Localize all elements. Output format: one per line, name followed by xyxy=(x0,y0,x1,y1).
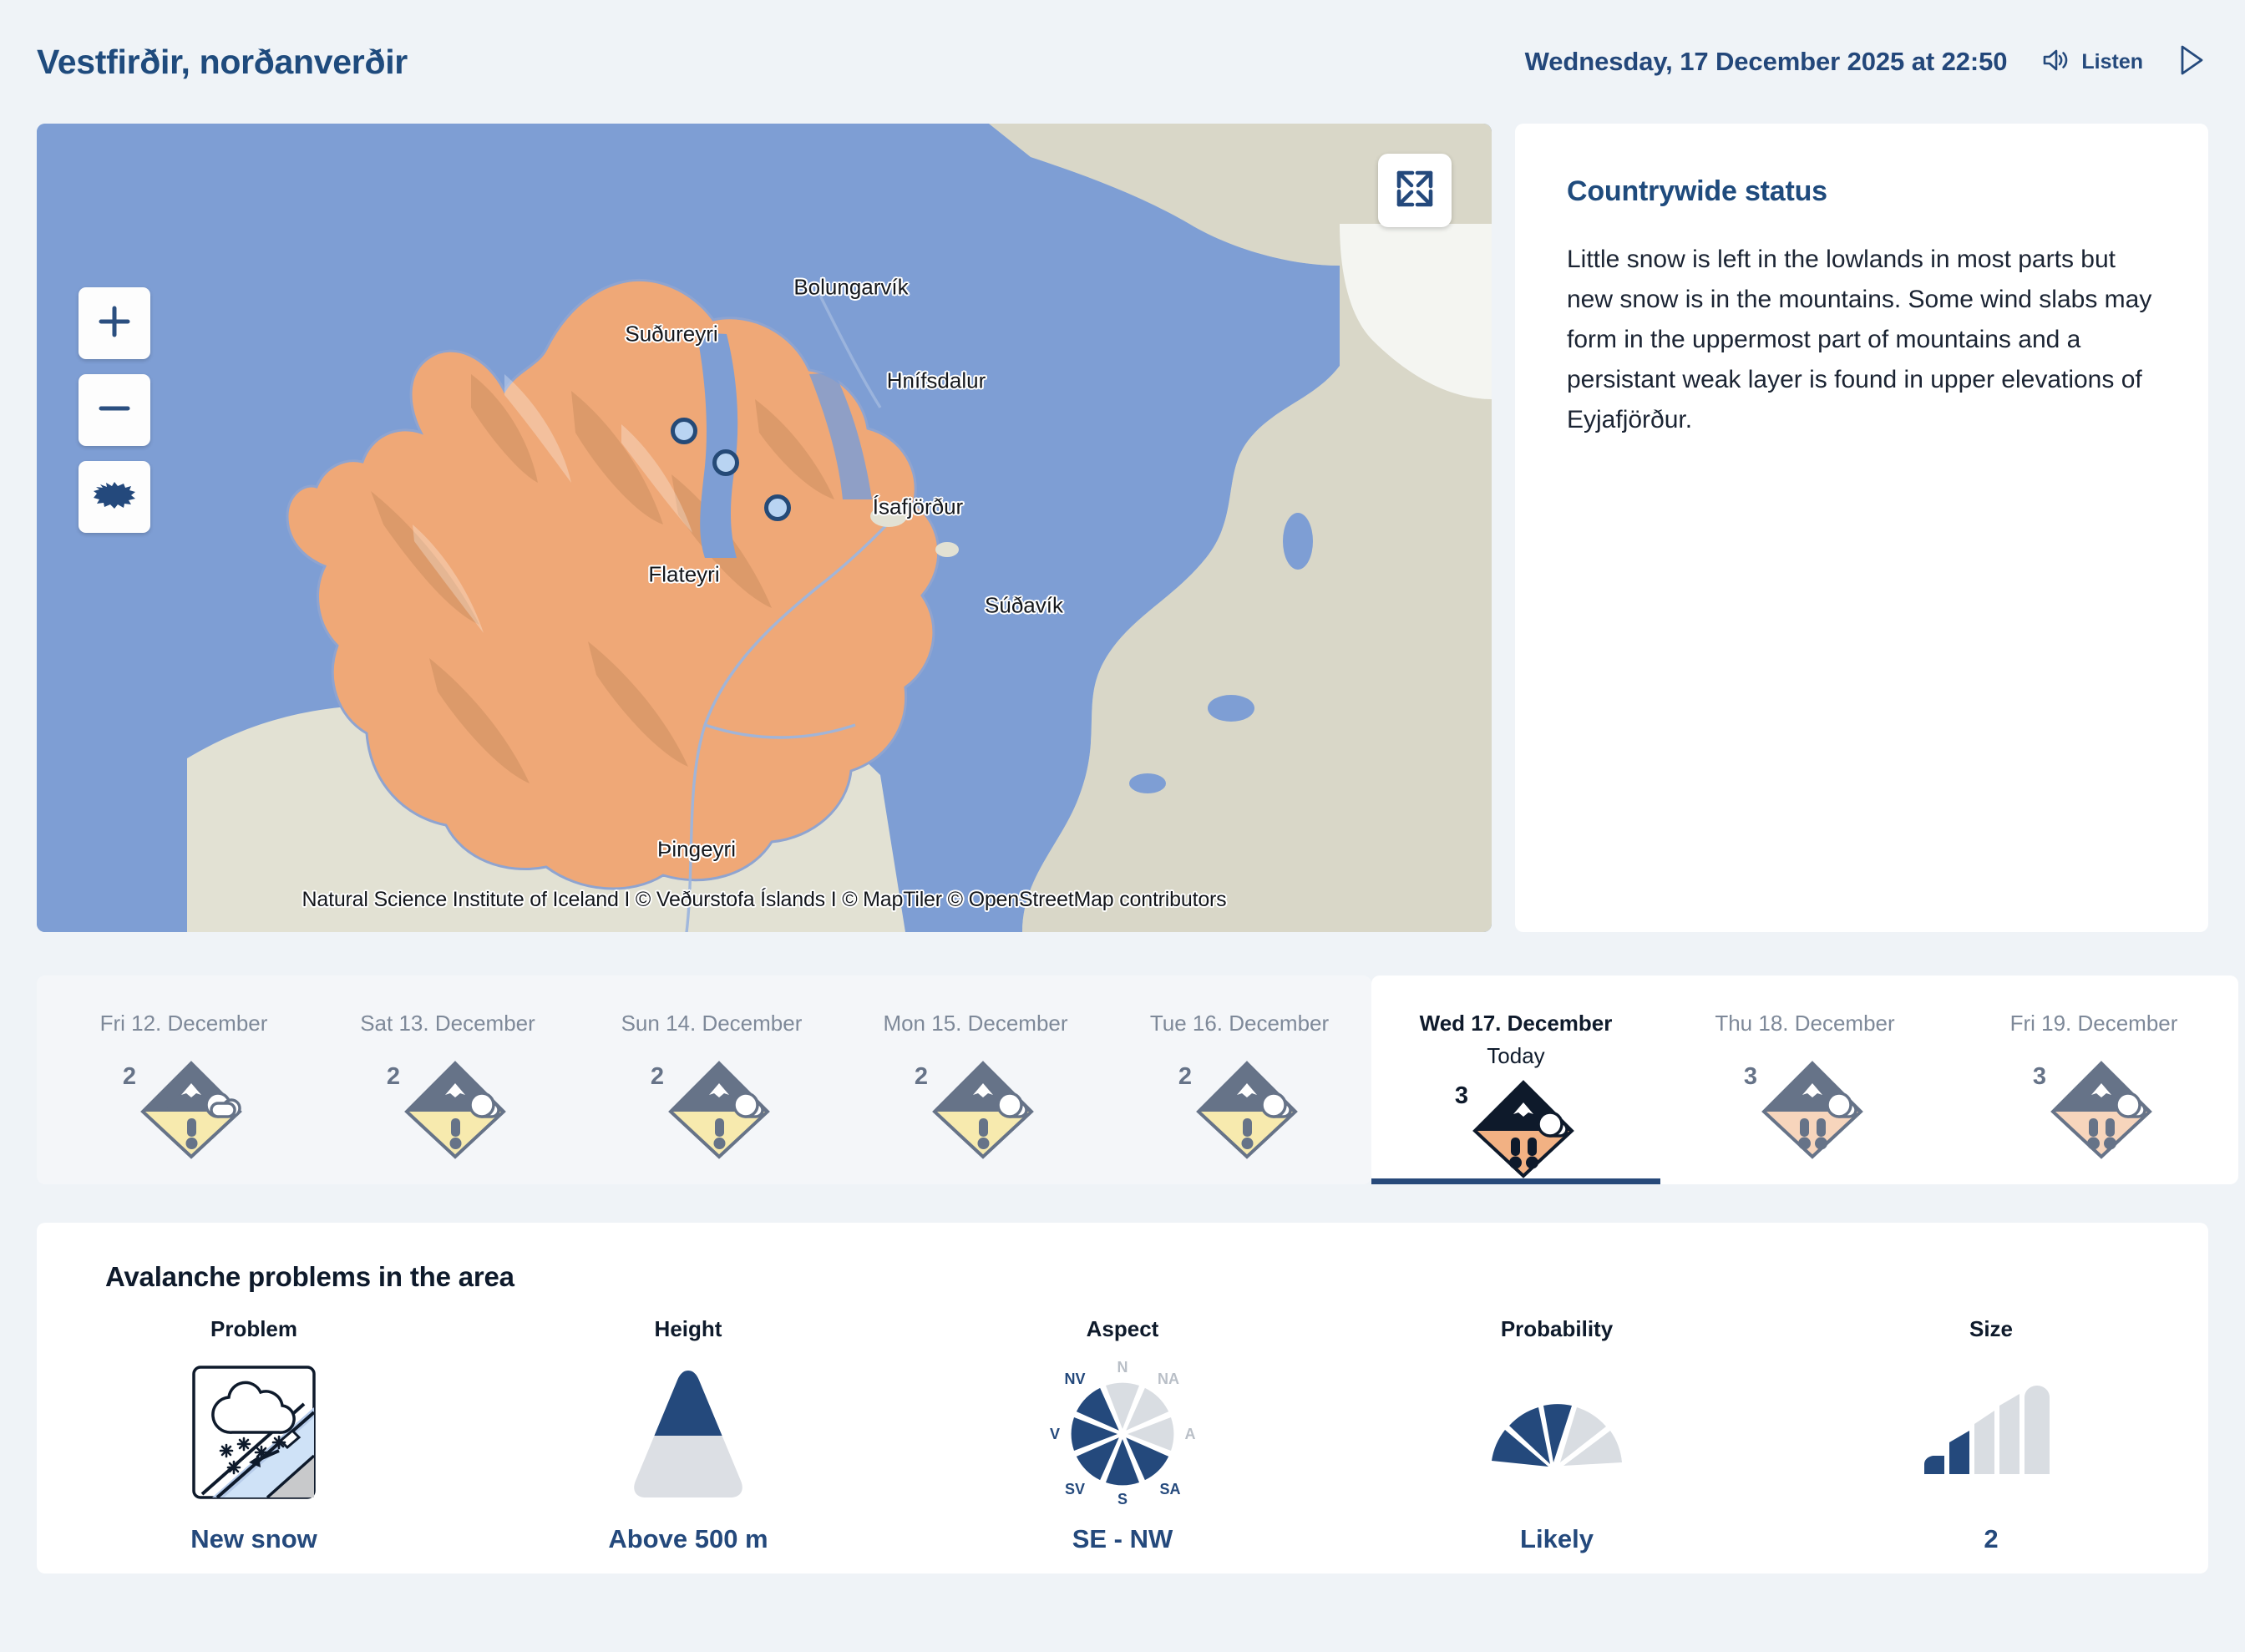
danger-level-2-icon xyxy=(930,1058,1036,1164)
problem-col-size: Size 2 xyxy=(1774,1316,2208,1554)
aspect-label-sa: SA xyxy=(1159,1481,1180,1497)
status-title: Countrywide status xyxy=(1567,175,2160,208)
day-label: Tue 16. December xyxy=(1150,1011,1329,1036)
map-attribution: Natural Science Institute of Iceland I ©… xyxy=(37,888,1492,912)
page-title: Vestfirðir, norðanverðir xyxy=(37,43,408,82)
danger-level-icon-group: 2 xyxy=(123,1058,245,1165)
timeline-day-fri-12[interactable]: Fri 12. December 2 xyxy=(52,975,316,1184)
listen-button[interactable]: Listen xyxy=(2042,48,2143,77)
danger-level-icon-group: 3 xyxy=(1455,1077,1577,1184)
danger-level-icon-group: 3 xyxy=(1744,1058,1866,1165)
play-button[interactable] xyxy=(2178,44,2205,80)
problem-value: Likely xyxy=(1520,1524,1594,1554)
danger-level-2-icon xyxy=(666,1058,773,1164)
problems-title: Avalanche problems in the area xyxy=(105,1261,2208,1293)
danger-level-3-icon xyxy=(1759,1058,1866,1164)
probability-gauge-icon xyxy=(1485,1361,1629,1504)
problem-heading: Aspect xyxy=(1087,1316,1159,1342)
map-controls xyxy=(79,287,150,533)
map-and-status-row: Bolungarvík Suðureyri Hnífsdalur Ísafjör… xyxy=(0,124,2245,932)
forecast-datetime: Wednesday, 17 December 2025 at 22:50 xyxy=(1525,47,2008,77)
map-place-label: Þingeyri xyxy=(657,837,736,863)
danger-level-3-icon xyxy=(2048,1058,2155,1164)
aspect-label-s: S xyxy=(1117,1491,1128,1506)
map-place-label: Flateyri xyxy=(648,562,719,588)
page-header: Vestfirðir, norðanverðir Wednesday, 17 D… xyxy=(0,0,2245,124)
problem-col-height: Height Above 500 m xyxy=(471,1316,905,1554)
fullscreen-expand-icon xyxy=(1394,168,1436,214)
timeline-day-sun-14[interactable]: Sun 14. December 2 xyxy=(580,975,844,1184)
day-label: Fri 12. December xyxy=(100,1011,268,1036)
danger-level-number: 2 xyxy=(915,1063,928,1091)
danger-level-number: 2 xyxy=(123,1063,136,1091)
fullscreen-button[interactable] xyxy=(1378,154,1452,227)
aspect-label-n: N xyxy=(1117,1359,1128,1376)
aspect-label-sv: SV xyxy=(1065,1481,1085,1497)
problem-heading: Height xyxy=(655,1316,722,1342)
timeline-day-fri-19[interactable]: Fri 19. December 3 xyxy=(1949,975,2238,1184)
danger-level-number: 3 xyxy=(1455,1082,1468,1110)
iceland-outline-icon xyxy=(92,479,137,516)
map-marker[interactable] xyxy=(671,418,697,444)
aspect-label-a: A xyxy=(1185,1426,1196,1442)
problem-heading: Probability xyxy=(1501,1316,1613,1342)
danger-level-icon-group: 2 xyxy=(915,1058,1036,1165)
timeline-day-mon-15[interactable]: Mon 15. December 2 xyxy=(844,975,1107,1184)
map-place-label: Suðureyri xyxy=(625,322,717,347)
zoom-out-button[interactable] xyxy=(79,374,150,446)
problem-col-probability: Probability Likely xyxy=(1340,1316,1774,1554)
countrywide-status-card: Countrywide status Little snow is left i… xyxy=(1515,124,2208,932)
status-text: Little snow is left in the lowlands in m… xyxy=(1567,240,2160,440)
reset-to-iceland-button[interactable] xyxy=(79,461,150,533)
map-place-label: Hnífsdalur xyxy=(887,368,986,394)
map-marker[interactable] xyxy=(764,494,791,521)
map-marker[interactable] xyxy=(712,449,739,476)
day-label: Wed 17. December xyxy=(1420,1011,1613,1036)
map-place-label: Ísafjörður xyxy=(873,494,963,520)
forecast-timeline: Fri 12. December 2 xyxy=(37,975,2208,1184)
problem-heading: Size xyxy=(1969,1316,2013,1342)
map-place-label: Súðavík xyxy=(985,593,1063,619)
today-label: Today xyxy=(1487,1043,1544,1069)
day-label: Thu 18. December xyxy=(1715,1011,1894,1036)
danger-level-icon-group: 2 xyxy=(387,1058,509,1165)
problems-grid: Problem xyxy=(37,1316,2208,1554)
day-label: Sun 14. December xyxy=(621,1011,803,1036)
problem-col-aspect: Aspect xyxy=(905,1316,1340,1554)
day-label: Fri 19. December xyxy=(2010,1011,2178,1036)
header-right-group: Wednesday, 17 December 2025 at 22:50 Lis… xyxy=(1525,44,2205,80)
map-canvas xyxy=(37,124,1492,932)
height-mountain-icon xyxy=(624,1361,753,1504)
aspect-label-nv: NV xyxy=(1064,1371,1085,1387)
day-label: Sat 13. December xyxy=(360,1011,535,1036)
danger-level-icon-group: 2 xyxy=(651,1058,773,1165)
timeline-day-wed-17-today[interactable]: Wed 17. December Today 3 xyxy=(1371,975,1660,1184)
danger-level-number: 3 xyxy=(1744,1063,1757,1091)
problem-value: New snow xyxy=(190,1524,317,1554)
avalanche-forecast-page: Vestfirðir, norðanverðir Wednesday, 17 D… xyxy=(0,0,2245,1652)
danger-level-2-icon xyxy=(402,1058,509,1164)
problem-value: 2 xyxy=(1984,1524,1998,1554)
danger-level-number: 3 xyxy=(2033,1063,2046,1091)
timeline-day-thu-18[interactable]: Thu 18. December 3 xyxy=(1660,975,1949,1184)
avalanche-problems-card: Avalanche problems in the area Problem xyxy=(37,1223,2208,1573)
speaker-icon xyxy=(2042,48,2070,77)
listen-label: Listen xyxy=(2081,50,2143,74)
timeline-day-tue-16[interactable]: Tue 16. December 2 xyxy=(1107,975,1371,1184)
timeline-past-group: Fri 12. December 2 xyxy=(37,975,1371,1184)
danger-level-icon-group: 3 xyxy=(2033,1058,2155,1165)
plus-icon xyxy=(95,302,134,345)
day-label: Mon 15. December xyxy=(883,1011,1067,1036)
danger-level-2-icon xyxy=(1193,1058,1300,1164)
aspect-label-na: NA xyxy=(1158,1371,1179,1387)
active-day-underline xyxy=(1371,1178,1660,1184)
timeline-future-group: Wed 17. December Today 3 xyxy=(1371,975,2238,1184)
forecast-map[interactable]: Bolungarvík Suðureyri Hnífsdalur Ísafjör… xyxy=(37,124,1492,932)
map-place-label: Bolungarvík xyxy=(793,275,908,301)
problem-value: SE - NW xyxy=(1072,1524,1173,1554)
aspect-compass-icon: N NA A SA S SV V NV xyxy=(1043,1361,1202,1504)
problem-heading: Problem xyxy=(210,1316,297,1342)
zoom-in-button[interactable] xyxy=(79,287,150,359)
new-snow-problem-icon xyxy=(187,1361,321,1504)
minus-icon xyxy=(95,389,134,432)
play-icon xyxy=(2178,44,2205,80)
danger-level-number: 2 xyxy=(387,1063,400,1091)
danger-level-number: 2 xyxy=(651,1063,664,1091)
danger-level-number: 2 xyxy=(1178,1063,1192,1091)
problem-value: Above 500 m xyxy=(608,1524,768,1554)
danger-level-2-icon xyxy=(138,1058,245,1164)
timeline-day-sat-13[interactable]: Sat 13. December 2 xyxy=(316,975,580,1184)
size-bars-icon xyxy=(1919,1361,2063,1504)
aspect-label-v: V xyxy=(1050,1426,1060,1442)
problem-col-problem: Problem xyxy=(37,1316,471,1554)
danger-level-icon-group: 2 xyxy=(1178,1058,1300,1165)
danger-level-3-icon xyxy=(1470,1077,1577,1183)
